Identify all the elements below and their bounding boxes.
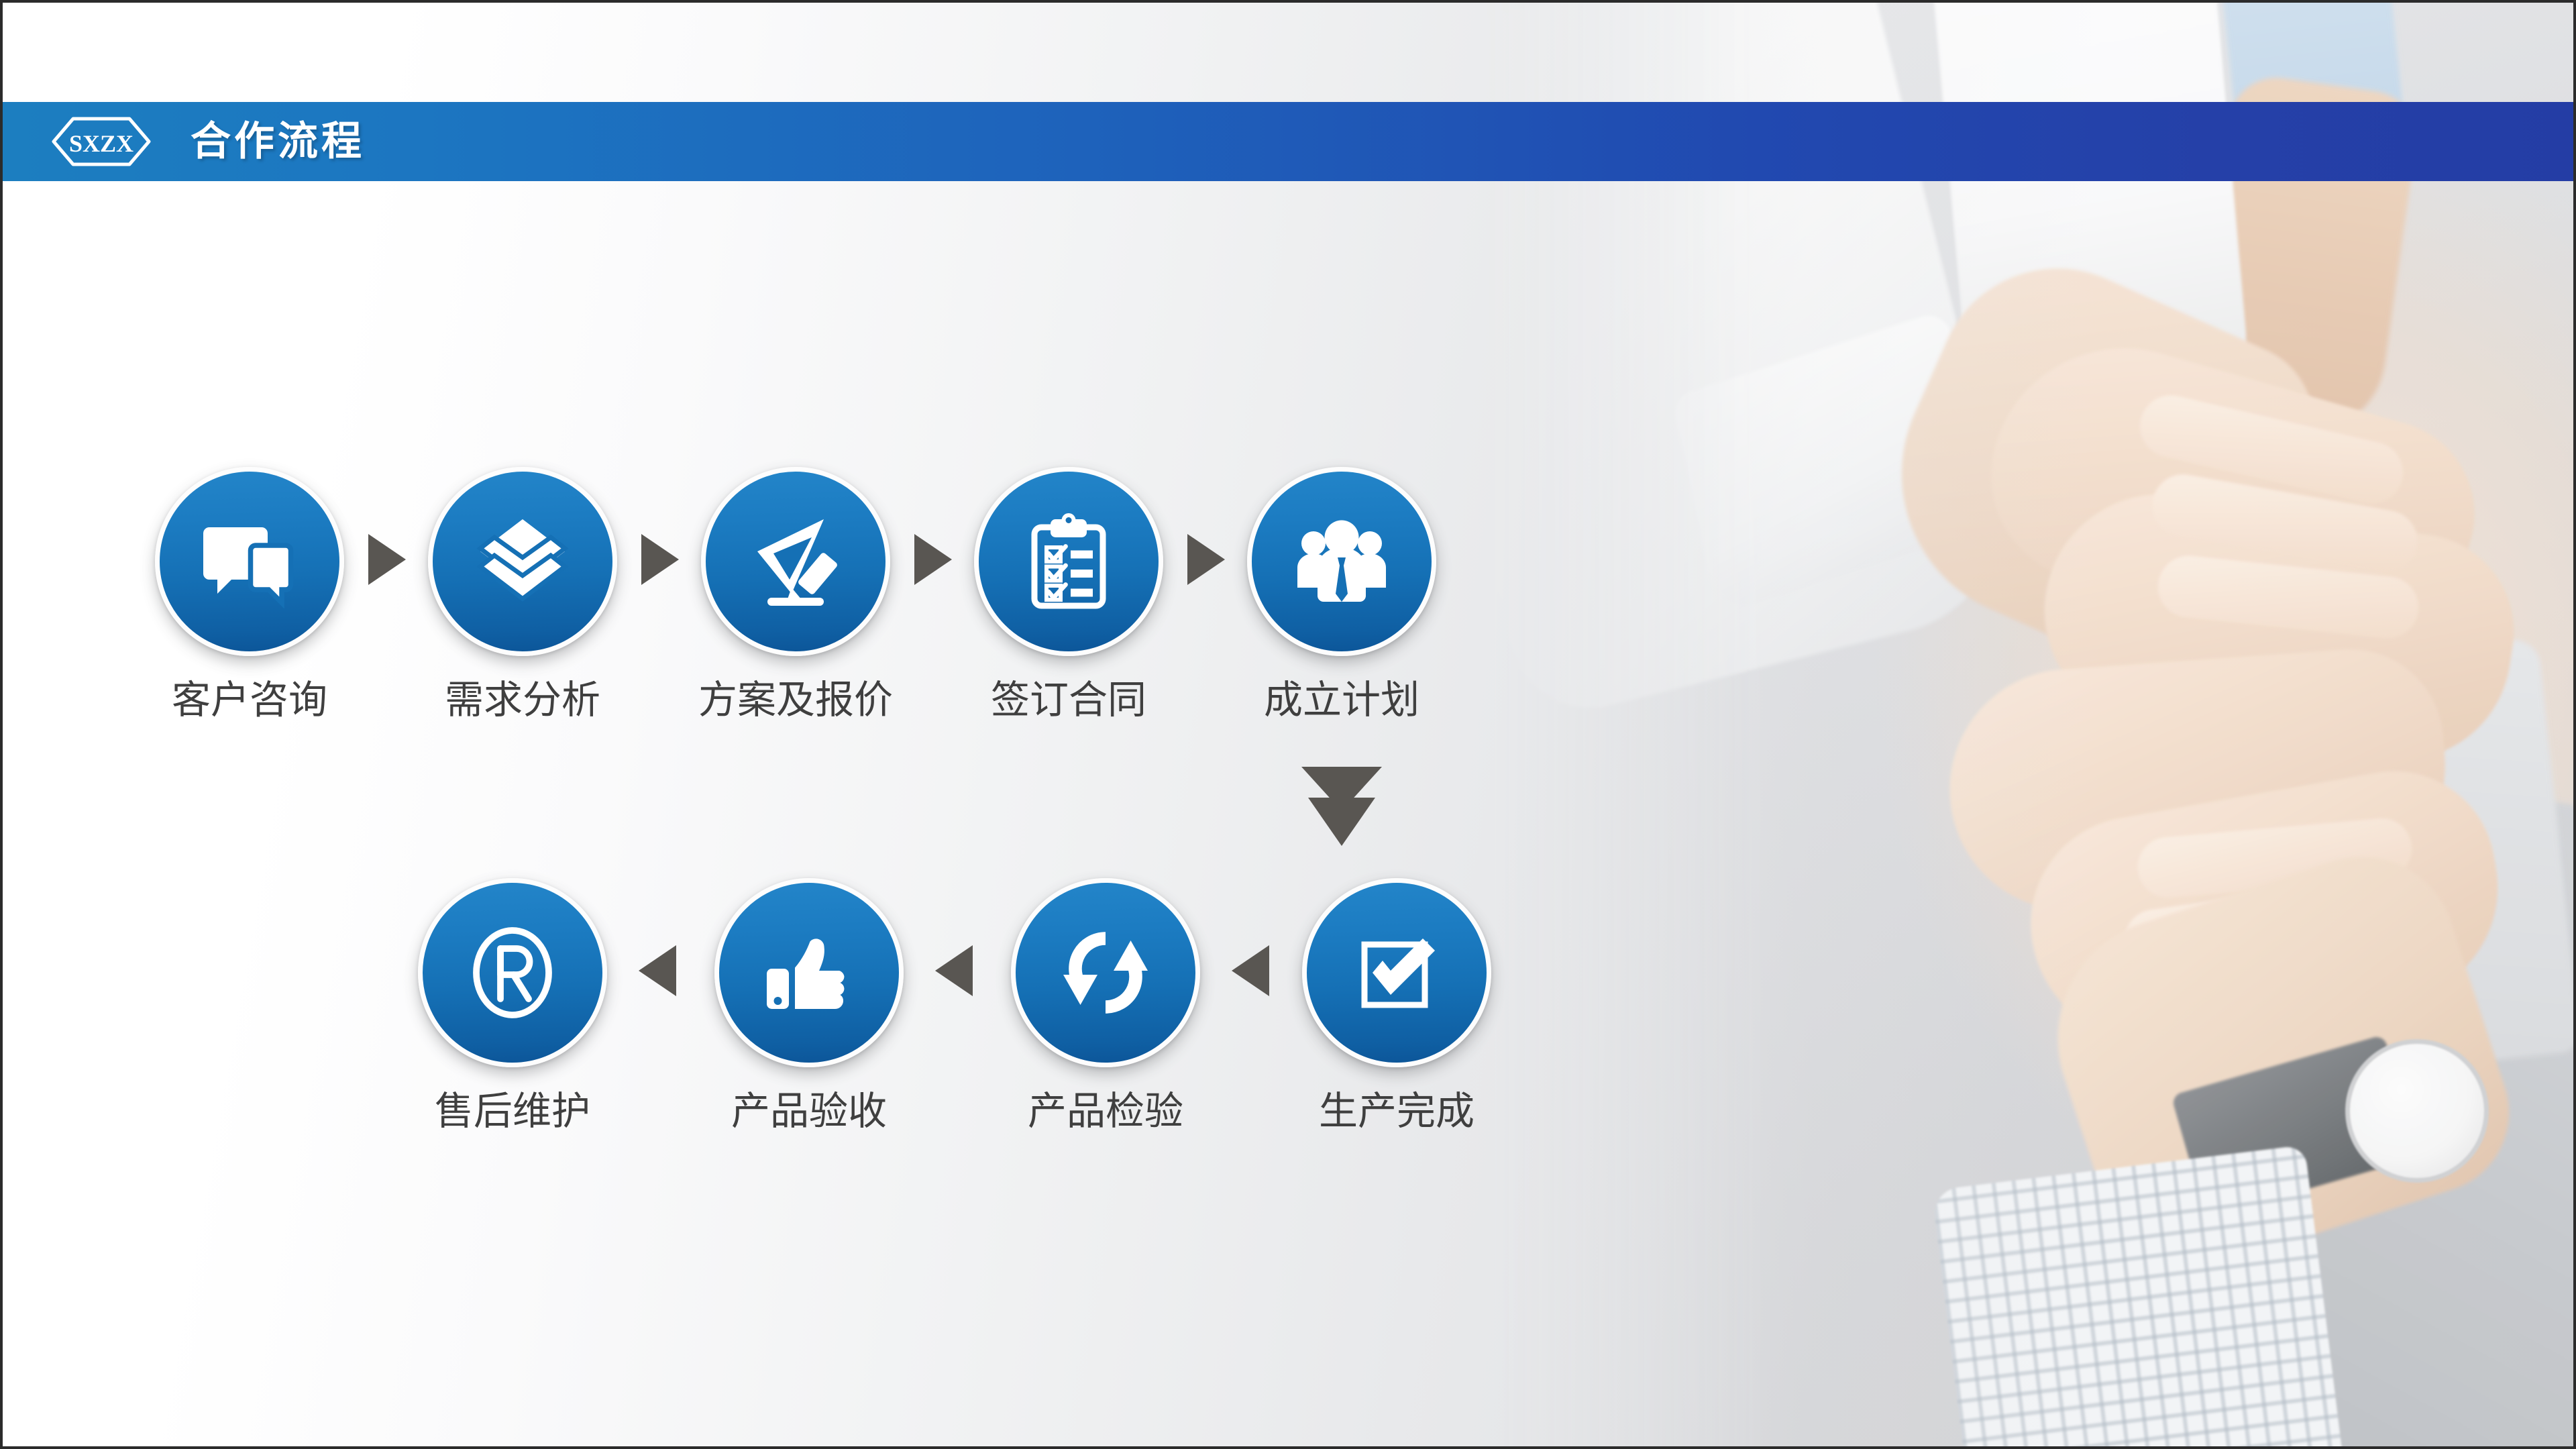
step-icon-circle[interactable] <box>701 467 890 656</box>
step-label: 签订合同 <box>968 680 1169 721</box>
arrow-left-icon-3 <box>1232 945 1269 996</box>
checkbox-check-icon <box>1346 922 1447 1023</box>
photo-left-fade <box>1480 3 2573 1449</box>
header-band: SXZX 合作流程 <box>3 102 2576 181</box>
step-label: 方案及报价 <box>695 680 896 721</box>
flow-step-proposal-quotation[interactable]: 方案及报价 <box>695 467 896 721</box>
flow-step-product-inspection[interactable]: 产品检验 <box>1005 878 1206 1132</box>
teamwork-hands-photo <box>1480 3 2573 1449</box>
double-chevron-down-icon <box>1296 763 1387 850</box>
flow-step-product-acceptance[interactable]: 产品验收 <box>708 878 910 1132</box>
step-icon-circle[interactable] <box>1011 878 1200 1067</box>
sxzx-logo-text: SXZX <box>69 130 133 157</box>
step-label: 客户咨询 <box>149 680 350 721</box>
step-label: 产品验收 <box>708 1091 910 1132</box>
registered-trademark-icon <box>462 922 563 1023</box>
flow-step-after-sales[interactable]: 售后维护 <box>412 878 613 1132</box>
clipboard-checklist-icon <box>1018 511 1119 612</box>
thumbs-up-icon <box>759 922 859 1023</box>
page-title: 合作流程 <box>191 121 365 162</box>
arrow-right-icon-2 <box>641 534 679 585</box>
step-icon-circle[interactable] <box>428 467 617 656</box>
arrow-right-icon-1 <box>368 534 406 585</box>
step-icon-circle[interactable] <box>418 878 607 1067</box>
stacked-layers-icon <box>472 511 573 612</box>
flow-step-production-complete[interactable]: 生产完成 <box>1296 878 1497 1132</box>
step-label: 需求分析 <box>422 680 623 721</box>
step-icon-circle[interactable] <box>155 467 344 656</box>
arrow-left-icon-1 <box>639 945 676 996</box>
step-icon-circle[interactable] <box>714 878 904 1067</box>
arrow-right-icon-3 <box>914 534 952 585</box>
step-icon-circle[interactable] <box>1302 878 1491 1067</box>
pencil-design-icon <box>745 511 846 612</box>
sxzx-logo[interactable]: SXZX <box>51 116 152 167</box>
chat-bubbles-icon <box>199 511 300 612</box>
step-label: 成立计划 <box>1241 680 1442 721</box>
flow-step-form-plan[interactable]: 成立计划 <box>1241 467 1442 721</box>
team-group-icon <box>1291 511 1392 612</box>
flow-step-customer-inquiry[interactable]: 客户咨询 <box>149 467 350 721</box>
sync-refresh-icon <box>1055 922 1156 1023</box>
flow-step-sign-contract[interactable]: 签订合同 <box>968 467 1169 721</box>
step-icon-circle[interactable] <box>1247 467 1436 656</box>
step-label: 售后维护 <box>412 1091 613 1132</box>
step-label: 产品检验 <box>1005 1091 1206 1132</box>
arrow-right-icon-4 <box>1187 534 1225 585</box>
slide: SXZX 合作流程 客户咨询 <box>0 0 2576 1449</box>
step-label: 生产完成 <box>1296 1091 1497 1132</box>
flow-step-requirement-analysis[interactable]: 需求分析 <box>422 467 623 721</box>
step-icon-circle[interactable] <box>974 467 1163 656</box>
arrow-left-icon-2 <box>935 945 973 996</box>
